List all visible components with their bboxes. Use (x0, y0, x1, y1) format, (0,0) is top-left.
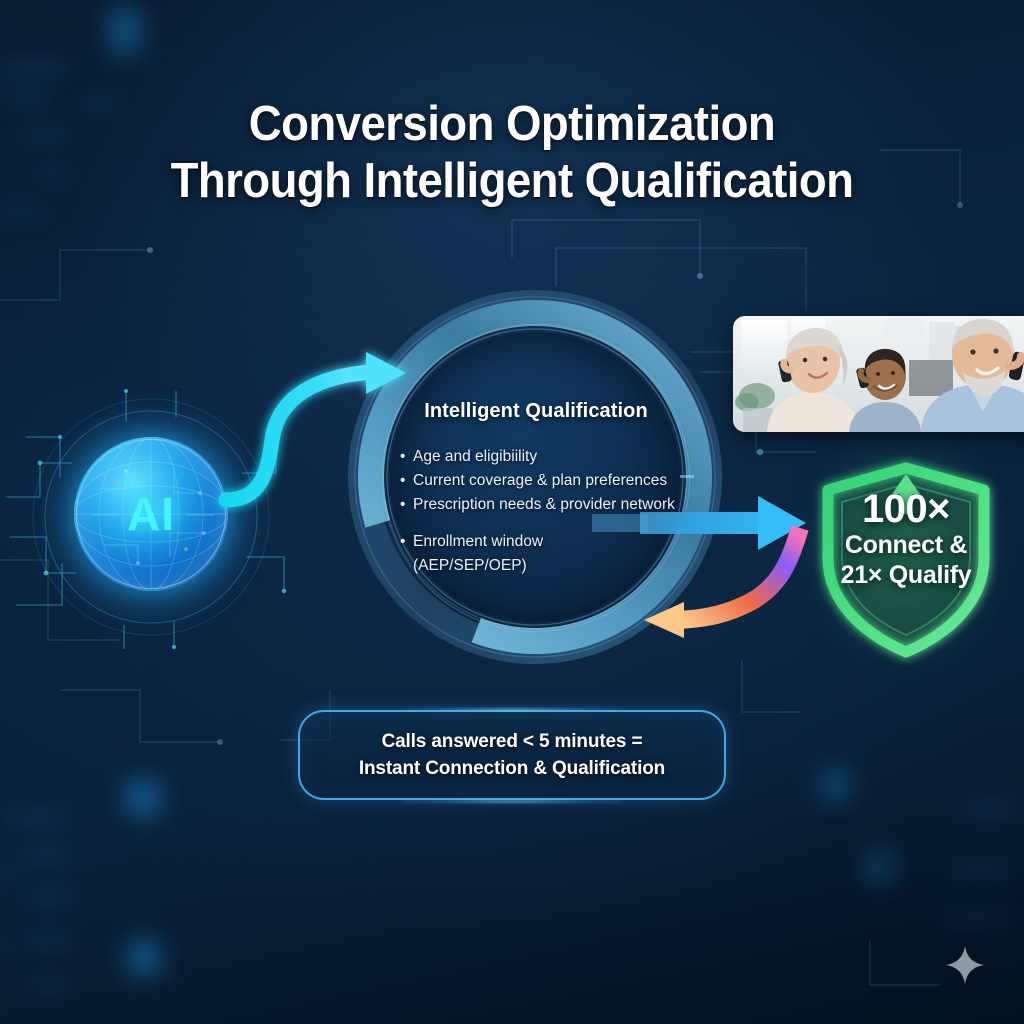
results-shield-badge: 100× Connect & 21× Qualify (818, 462, 994, 658)
ai-node-label: AI (74, 437, 228, 591)
list-item-sublabel: (AEP/SEP/OEP) (400, 554, 686, 577)
bottom-banner: Calls answered < 5 minutes = Instant Con… (298, 710, 726, 800)
shield-line-2: 21× Qualify (818, 560, 994, 590)
banner-line-2: Instant Connection & Qualification (359, 755, 665, 782)
list-item-label: Age and eligibiility (413, 445, 537, 468)
banner-glow-bottom (401, 800, 624, 803)
bullet-marker-icon: • (400, 530, 413, 553)
sparkle-icon (944, 944, 986, 986)
title-line-2: Through Intelligent Qualification (36, 153, 988, 210)
ai-globe-icon: AI (74, 437, 228, 591)
bullet-marker-icon: • (400, 445, 413, 468)
bullet-marker-icon: • (400, 493, 413, 516)
list-item-label: Enrollment window (413, 530, 543, 553)
banner-text-block: Calls answered < 5 minutes = Instant Con… (298, 710, 726, 800)
banner-line-1: Calls answered < 5 minutes = (382, 728, 643, 755)
list-spacer (400, 517, 686, 530)
qualification-panel: Intelligent Qualification • Age and elig… (386, 400, 686, 577)
page-title: Conversion Optimization Through Intellig… (0, 96, 1024, 210)
qualification-bullet-list: • Age and eligibiility • Current coverag… (386, 445, 686, 577)
list-item-label: Prescription needs & provider network (413, 493, 675, 516)
list-item: • Enrollment window (400, 530, 686, 553)
shield-text-block: 100× Connect & 21× Qualify (818, 488, 994, 590)
ai-node[interactable]: AI (62, 425, 240, 603)
infographic-canvas: Conversion Optimization Through Intellig… (0, 0, 1024, 1024)
list-item: • Age and eligibiility (400, 445, 686, 468)
qualification-heading: Intelligent Qualification (386, 400, 686, 423)
bullet-marker-icon: • (400, 469, 413, 492)
shield-metric: 100× (818, 488, 994, 530)
shield-line-1: Connect & (818, 530, 994, 560)
list-item-label: Current coverage & plan preferences (413, 469, 667, 492)
title-line-1: Conversion Optimization (36, 96, 988, 153)
list-item: • Prescription needs & provider network (400, 493, 686, 516)
customer-photo-panel (733, 316, 1024, 432)
photo-illustration (733, 316, 1024, 432)
list-item: • Current coverage & plan preferences (400, 469, 686, 492)
